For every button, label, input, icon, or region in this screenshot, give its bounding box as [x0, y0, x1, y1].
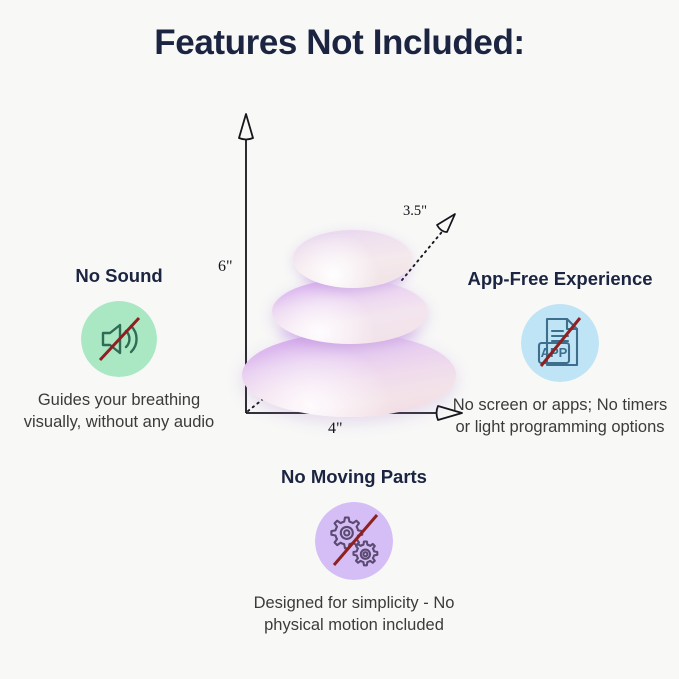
feature-caption-no-sound: Guides your breathing visually, without … — [8, 390, 230, 434]
feature-heading-no-moving-parts: No Moving Parts — [240, 465, 468, 488]
feature-heading-no-sound: No Sound — [8, 264, 230, 287]
dimension-label-depth: 3.5" — [403, 203, 427, 220]
stone-bottom — [242, 333, 456, 417]
infographic-page: Features Not Included: 6" 4" 3.5" N — [0, 0, 679, 679]
gears-icon — [315, 502, 393, 580]
app-document-icon: APP — [521, 304, 599, 382]
dimension-label-width: 4" — [328, 420, 343, 438]
app-badge-text: APP — [541, 345, 568, 360]
feature-heading-app-free: App-Free Experience — [446, 267, 674, 290]
speaker-muted-icon — [81, 301, 157, 377]
feature-icon-wrap-app-free: APP — [521, 304, 599, 382]
stone-middle — [272, 279, 428, 344]
stone-stack-diagram: 6" 4" 3.5" — [206, 108, 486, 438]
feature-no-moving-parts: No Moving Parts Designed for simplicity … — [240, 465, 468, 637]
feature-caption-no-moving-parts: Designed for simplicity - No physical mo… — [240, 593, 468, 637]
feature-icon-wrap-no-moving-parts — [315, 502, 393, 580]
feature-app-free: App-Free Experience APP No screen or app… — [446, 267, 674, 439]
feature-caption-app-free: No screen or apps; No timers or light pr… — [446, 395, 674, 439]
feature-icon-wrap-no-sound — [81, 301, 157, 377]
page-title: Features Not Included: — [0, 22, 679, 64]
feature-no-sound: No Sound Guides your breathing visually,… — [8, 264, 230, 434]
stone-top — [293, 230, 412, 288]
